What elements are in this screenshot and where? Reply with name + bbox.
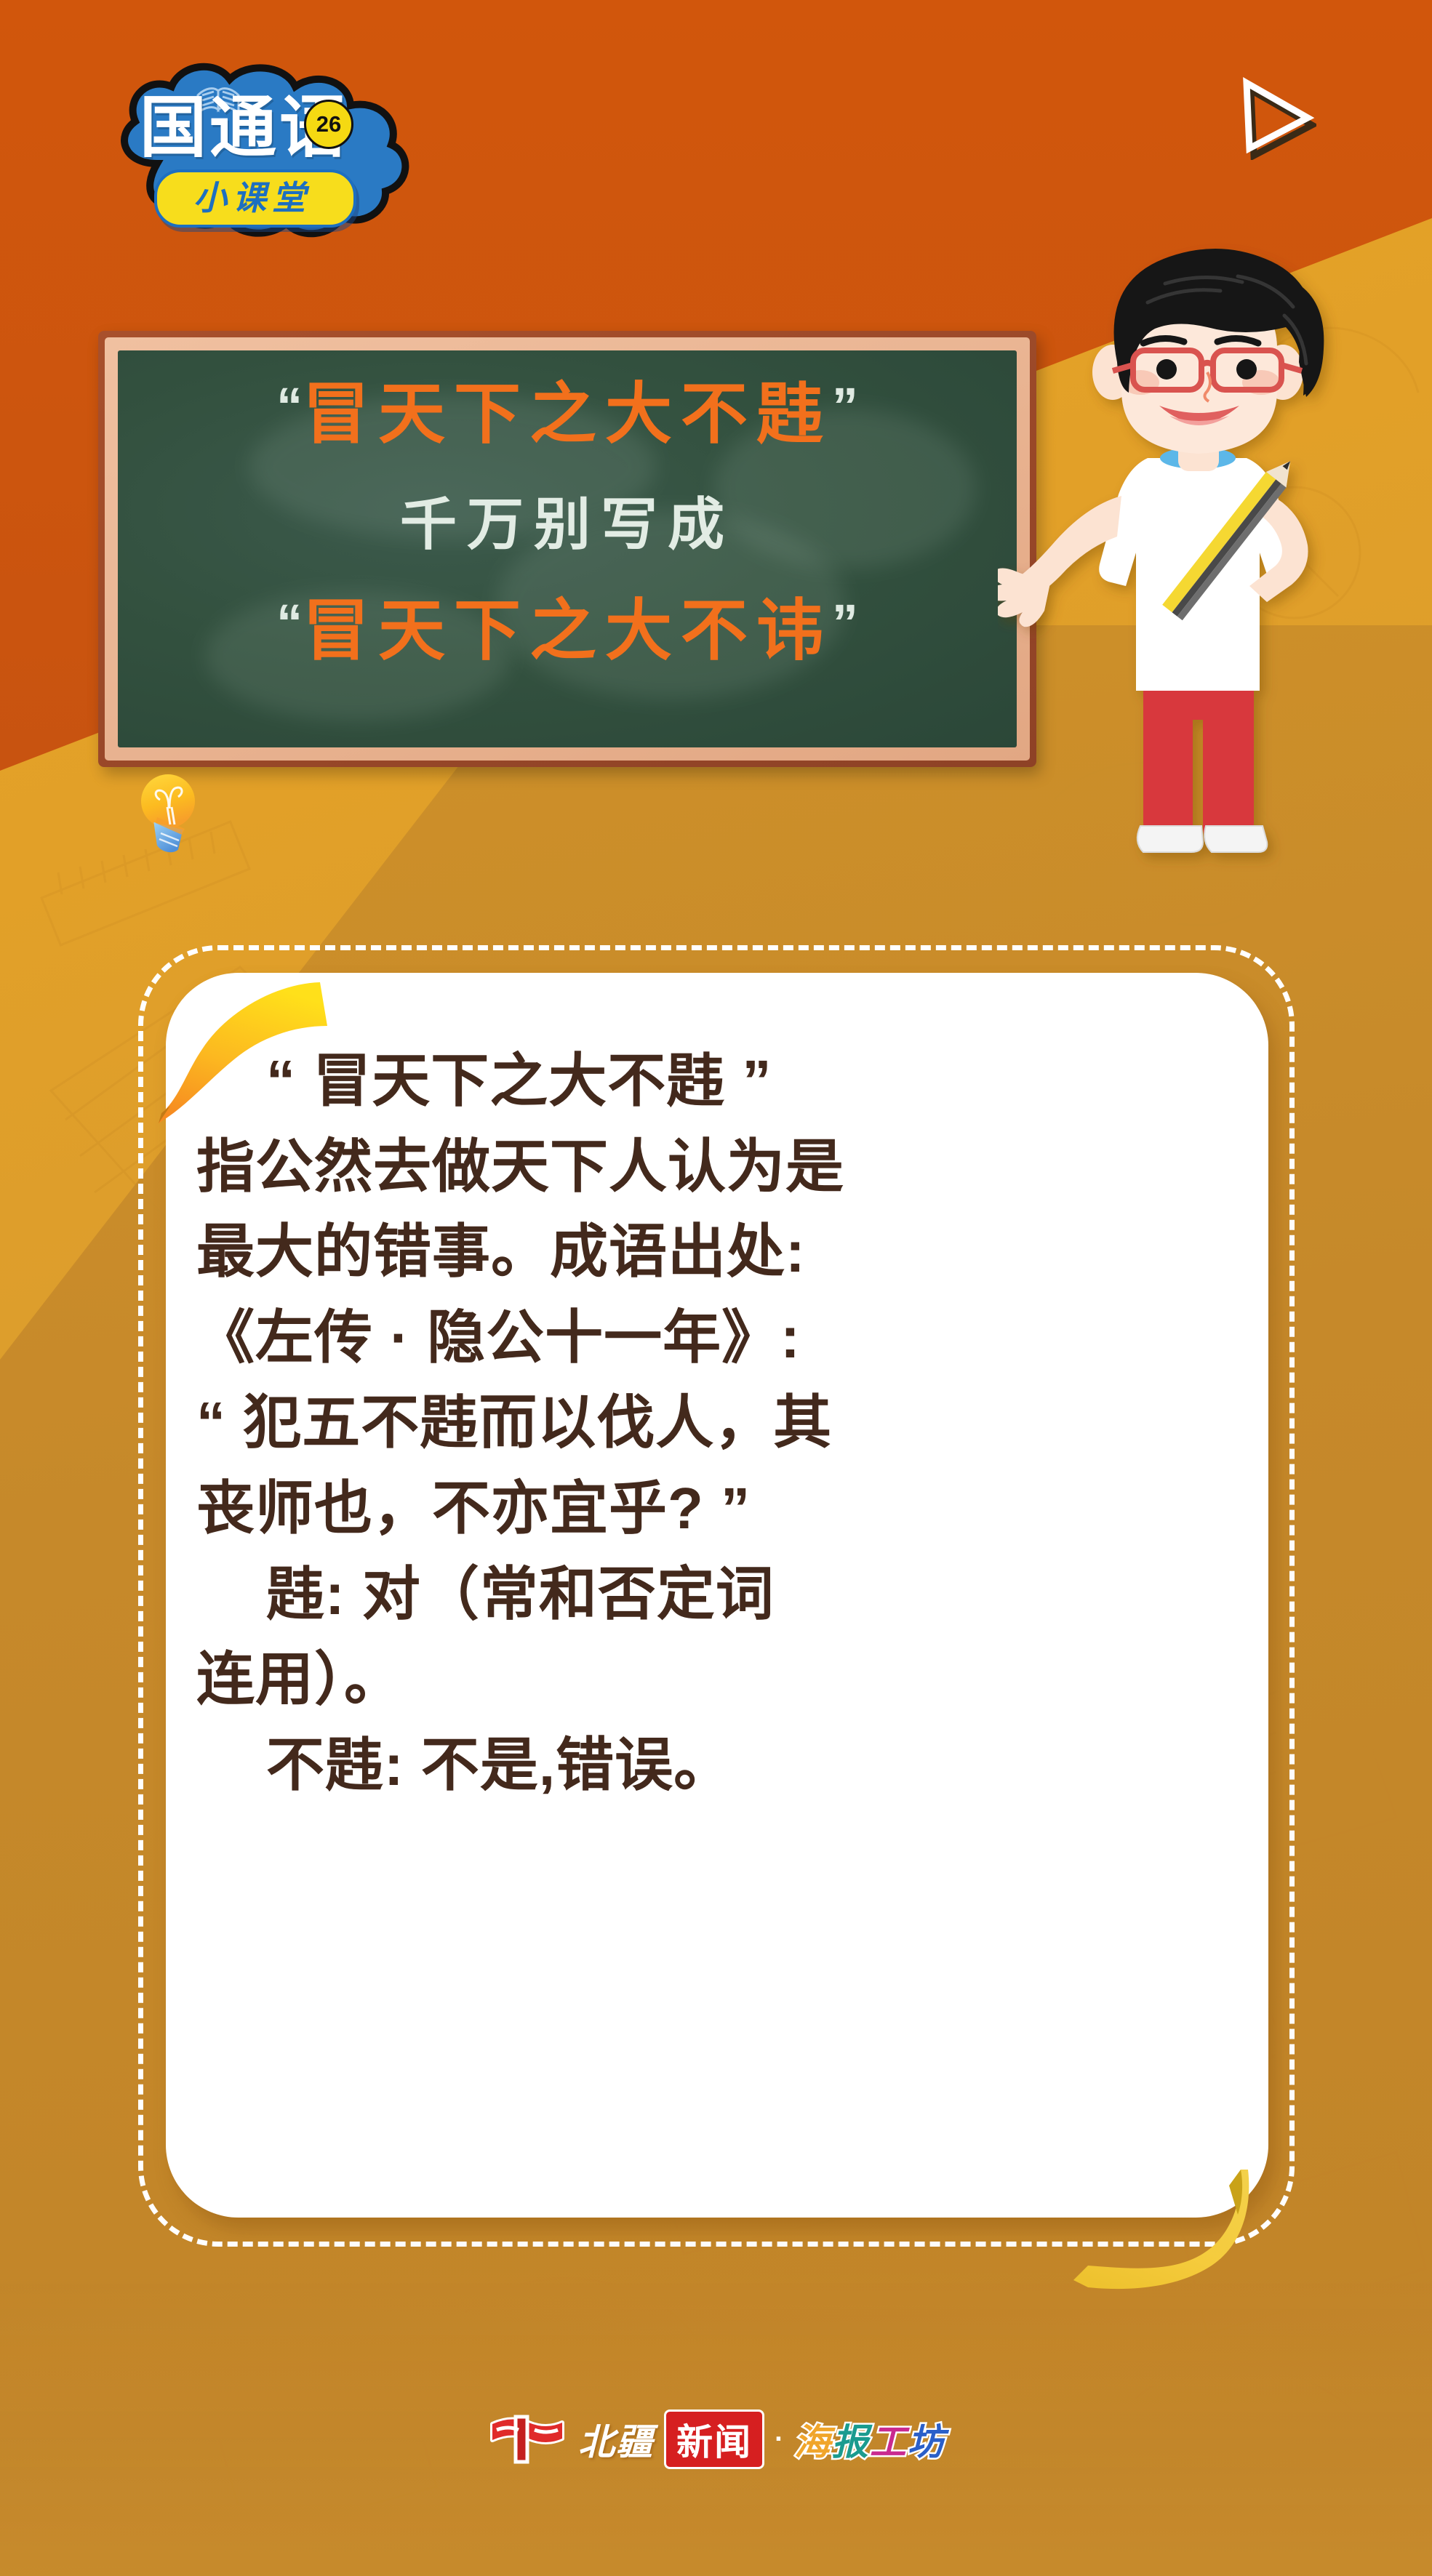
card-line-6: 丧师也，不亦宜乎? ” <box>196 1467 1244 1550</box>
blackboard-line-1: “冒天下之大不韪” <box>118 381 1017 448</box>
blackboard-surface: “冒天下之大不韪” 千万别写成 “冒天下之大不讳” <box>118 350 1017 747</box>
close-quote-2: ” <box>832 594 858 652</box>
blackboard-frame-inner: “冒天下之大不韪” 千万别写成 “冒天下之大不讳” <box>105 337 1030 761</box>
play-triangle-icon <box>1229 73 1316 160</box>
card-body-text: “ 冒天下之大不韪 ” 指公然去做天下人认为是 最大的错事。成语出处: 《左传 … <box>196 1040 1244 1809</box>
blackboard: “冒天下之大不韪” 千万别写成 “冒天下之大不讳” <box>98 331 1036 767</box>
card-line-8: 连用）。 <box>196 1638 1244 1721</box>
footer-news-badge: 新闻 <box>664 2410 764 2469</box>
open-quote: “ <box>276 377 303 436</box>
blackboard-line-3: “冒天下之大不讳” <box>118 598 1017 665</box>
boy-student-illustration <box>998 240 1376 916</box>
red-flag-icon <box>487 2412 568 2466</box>
brand-logo[interactable]: 国通语 26 小课堂 <box>87 55 465 244</box>
blackboard-line-3-text: 冒天下之大不讳 <box>303 594 832 668</box>
light-bulb-icon <box>138 769 207 856</box>
logo-subtitle: 小课堂 <box>154 169 351 222</box>
card-line-3: 最大的错事。成语出处: <box>196 1211 1244 1293</box>
logo-episode-badge: 26 <box>304 100 353 149</box>
footer-separator: · <box>775 2424 784 2455</box>
card-line-4: 《左传 · 隐公十一年》: <box>196 1296 1244 1379</box>
card-line-9: 不韪: 不是,错误。 <box>196 1724 1244 1807</box>
card-line-5: “ 犯五不韪而以伐人，其 <box>196 1381 1244 1464</box>
poster-root: 国通语 26 小课堂 “冒天下之大不韪” 千万别写成 “冒天下之大不讳” <box>0 0 1432 2576</box>
close-quote: ” <box>832 377 858 436</box>
blackboard-line-1-text: 冒天下之大不韪 <box>303 377 832 452</box>
card-line-1: “ 冒天下之大不韪 ” <box>196 1040 1244 1123</box>
footer-branding: 北疆 新闻 · 海报工坊 <box>0 2399 1432 2479</box>
ribbon-bottom-right <box>1047 2138 1287 2319</box>
blackboard-line-2: 千万别写成 <box>118 496 1017 553</box>
card-line-7: 韪: 对（常和否定词 <box>196 1553 1244 1636</box>
open-quote-2: “ <box>276 594 303 652</box>
footer-workshop: 海报工坊 <box>794 2413 945 2465</box>
footer-brand: 北疆 <box>578 2413 654 2465</box>
card-line-2: 指公然去做天下人认为是 <box>196 1126 1244 1208</box>
